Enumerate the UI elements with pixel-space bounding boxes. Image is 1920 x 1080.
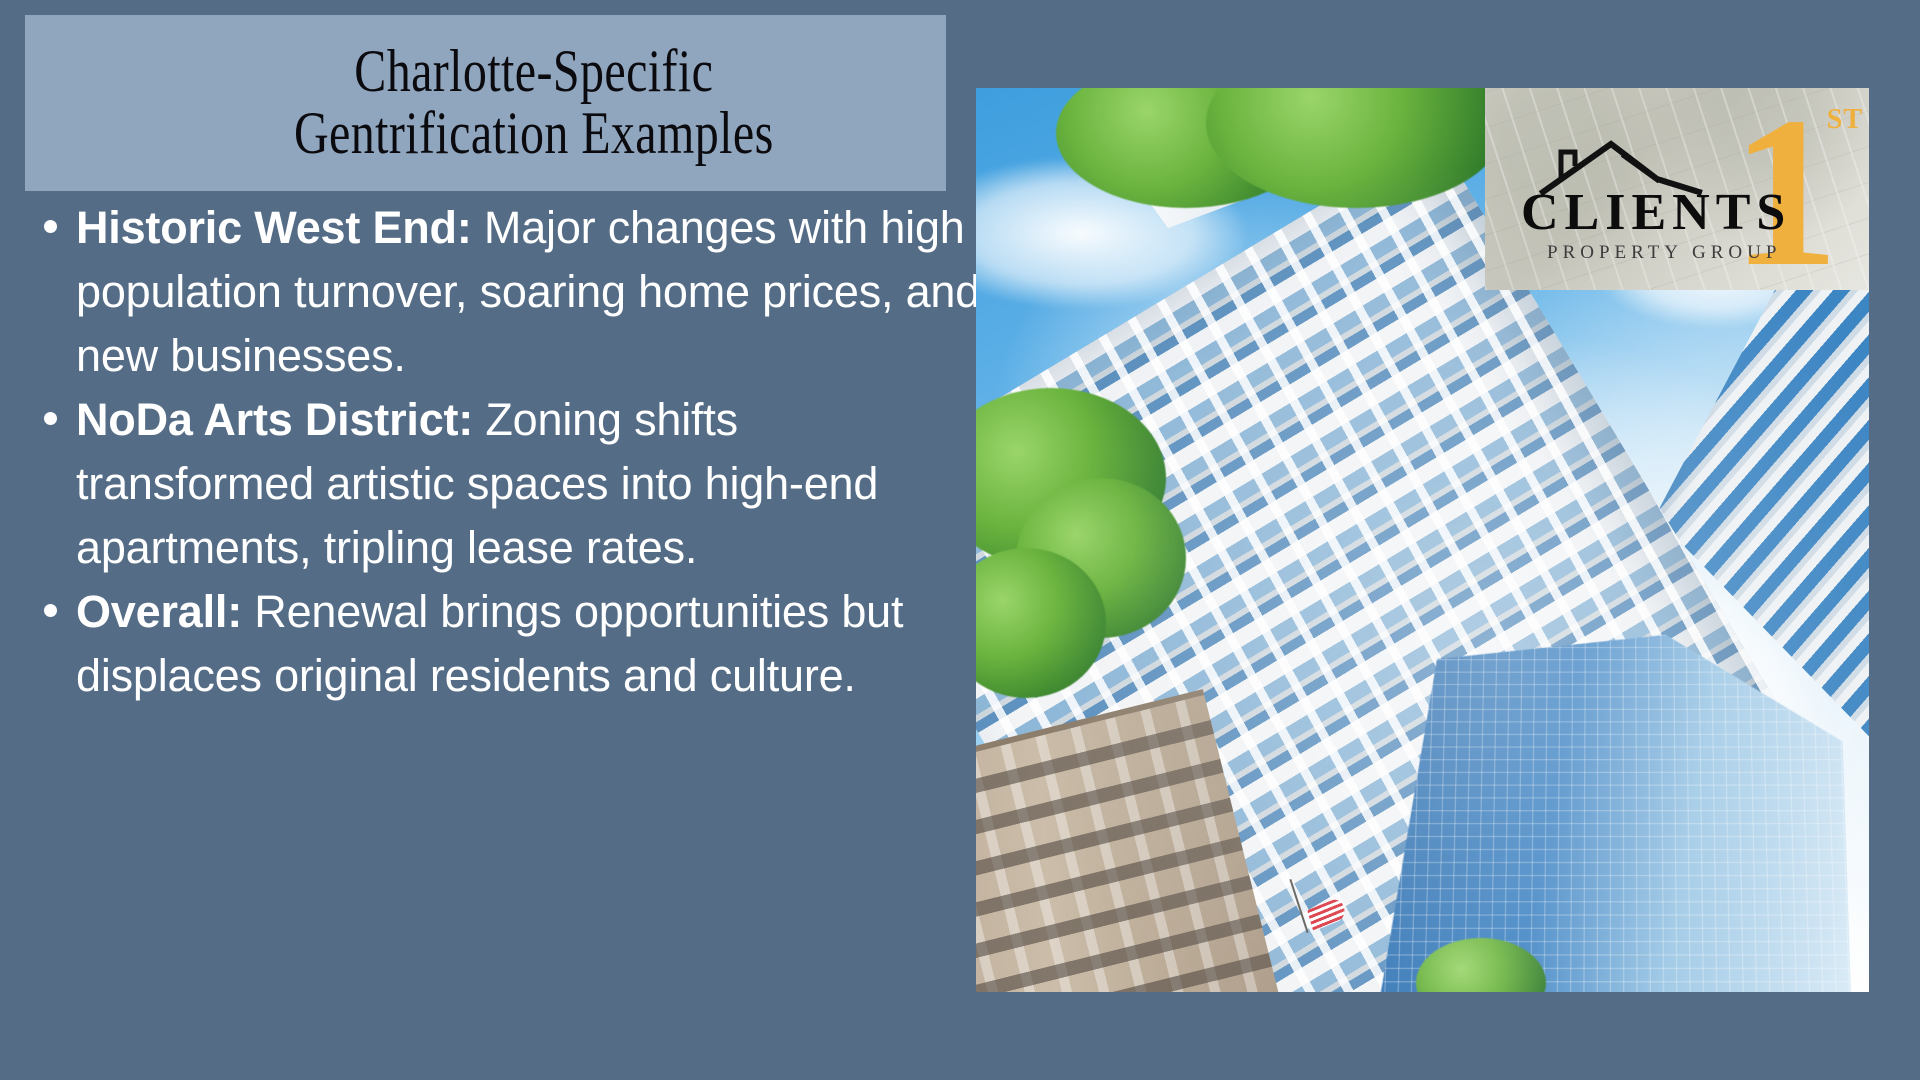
list-item: Historic West End: Major changes with hi… <box>22 196 982 388</box>
list-item-lead: NoDa Arts District: <box>76 394 473 445</box>
bullet-dot-icon <box>44 220 57 233</box>
list-item-lead: Historic West End: <box>76 202 472 253</box>
list-item: Overall: Renewal brings opportunities bu… <box>22 580 982 708</box>
page-title: Charlotte-Specific Gentrification Exampl… <box>198 41 774 165</box>
bullet-dot-icon <box>44 604 57 617</box>
title-box: Charlotte-Specific Gentrification Exampl… <box>25 15 946 191</box>
logo-ordinal-suffix: ST <box>1827 104 1863 136</box>
bullet-list: Historic West End: Major changes with hi… <box>22 196 982 708</box>
list-item: NoDa Arts District: Zoning shifts transf… <box>22 388 982 580</box>
logo-tagline: PROPERTY GROUP <box>1547 242 1781 264</box>
bullet-dot-icon <box>44 412 57 425</box>
logo-wordmark: CLIENTS <box>1521 183 1791 242</box>
company-logo: 1 ST CLIENTS PROPERTY GROUP <box>1485 88 1869 290</box>
list-item-lead: Overall: <box>76 586 242 637</box>
slide-canvas: Charlotte-Specific Gentrification Exampl… <box>0 0 1920 1080</box>
